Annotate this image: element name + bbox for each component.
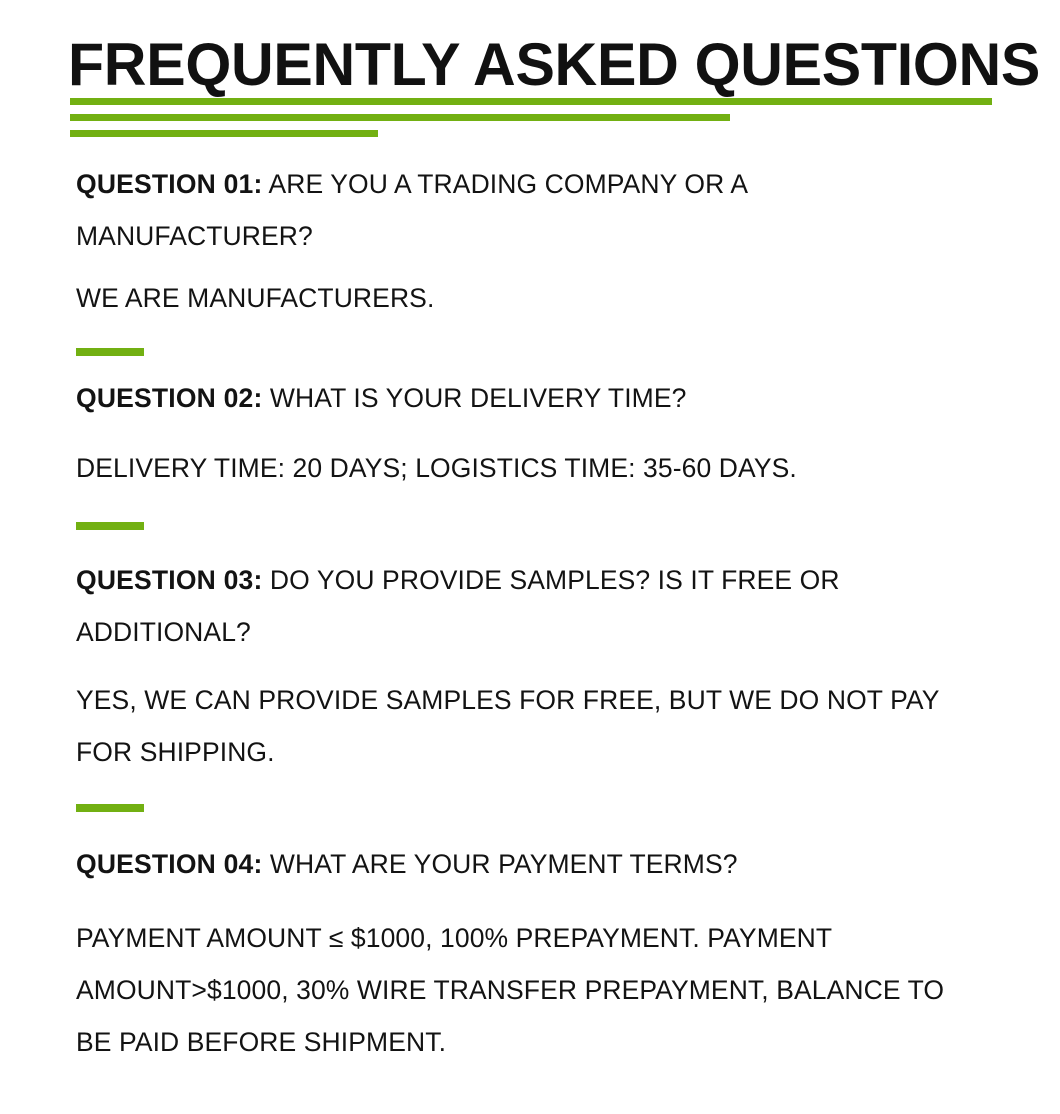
faq-page: FREQUENTLY ASKED QUESTIONS QUESTION 01: … <box>0 0 1060 1114</box>
faq-item: QUESTION 03: DO YOU PROVIDE SAMPLES? IS … <box>0 554 1060 812</box>
accent-rule-medium <box>70 114 730 121</box>
faq-question-text: WHAT IS YOUR DELIVERY TIME? <box>262 383 686 413</box>
faq-answer: DELIVERY TIME: 20 DAYS; LOGISTICS TIME: … <box>76 442 976 494</box>
faq-item: QUESTION 04: WHAT ARE YOUR PAYMENT TERMS… <box>0 838 1060 1068</box>
faq-question-label: QUESTION 03: <box>76 565 262 595</box>
accent-rule-short <box>70 130 378 137</box>
faq-question-label: QUESTION 01: <box>76 169 262 199</box>
faq-item: QUESTION 01: ARE YOU A TRADING COMPANY O… <box>0 158 1060 356</box>
page-title: FREQUENTLY ASKED QUESTIONS <box>68 34 1040 96</box>
faq-question-label: QUESTION 04: <box>76 849 262 879</box>
faq-answer: PAYMENT AMOUNT ≤ $1000, 100% PREPAYMENT.… <box>76 912 976 1068</box>
faq-divider <box>76 804 144 812</box>
faq-question: QUESTION 01: ARE YOU A TRADING COMPANY O… <box>76 158 976 262</box>
faq-item: QUESTION 02: WHAT IS YOUR DELIVERY TIME?… <box>0 372 1060 530</box>
faq-question: QUESTION 04: WHAT ARE YOUR PAYMENT TERMS… <box>76 838 976 890</box>
faq-question: QUESTION 02: WHAT IS YOUR DELIVERY TIME? <box>76 372 976 424</box>
faq-answer: YES, WE CAN PROVIDE SAMPLES FOR FREE, BU… <box>76 674 976 778</box>
accent-rule-long <box>70 98 992 105</box>
faq-divider <box>76 522 144 530</box>
faq-question: QUESTION 03: DO YOU PROVIDE SAMPLES? IS … <box>76 554 976 658</box>
faq-question-label: QUESTION 02: <box>76 383 262 413</box>
faq-answer: WE ARE MANUFACTURERS. <box>76 272 976 324</box>
faq-list: QUESTION 01: ARE YOU A TRADING COMPANY O… <box>0 158 1060 1068</box>
faq-question-text: WHAT ARE YOUR PAYMENT TERMS? <box>262 849 737 879</box>
faq-divider <box>76 348 144 356</box>
